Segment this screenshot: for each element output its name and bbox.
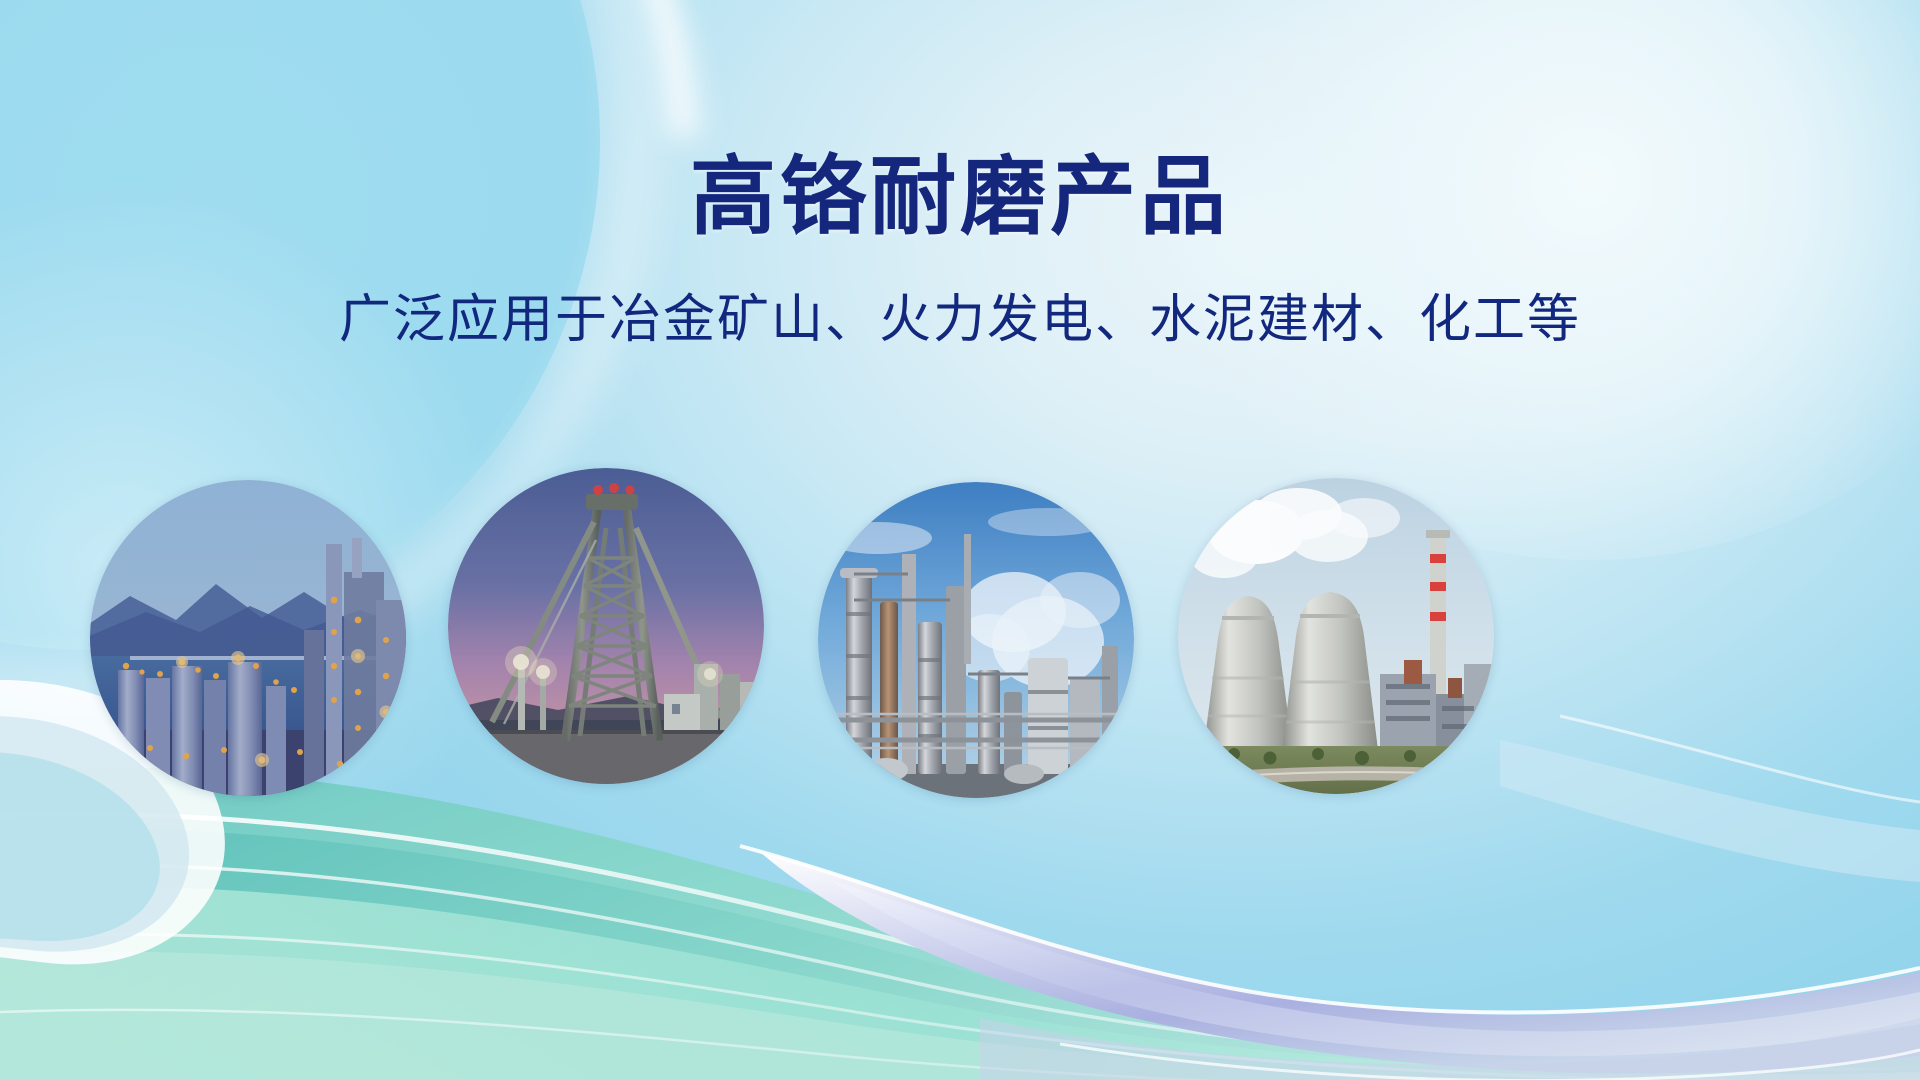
photo-circle-gallery bbox=[0, 0, 1920, 1080]
photo-circle-thermal-power-plant[interactable] bbox=[1178, 478, 1494, 794]
chemical-refinery-image bbox=[818, 482, 1134, 798]
photo-circle-mine-headframe[interactable] bbox=[448, 468, 764, 784]
banner-stage: 高铬耐磨产品 广泛应用于冶金矿山、火力发电、水泥建材、化工等 bbox=[0, 0, 1920, 1080]
mine-headframe-image bbox=[448, 468, 764, 784]
photo-circle-cement-plant[interactable] bbox=[90, 480, 406, 796]
photo-circle-chemical-refinery[interactable] bbox=[818, 482, 1134, 798]
thermal-power-plant-image bbox=[1178, 478, 1494, 794]
cement-plant-dusk-image bbox=[90, 480, 406, 796]
